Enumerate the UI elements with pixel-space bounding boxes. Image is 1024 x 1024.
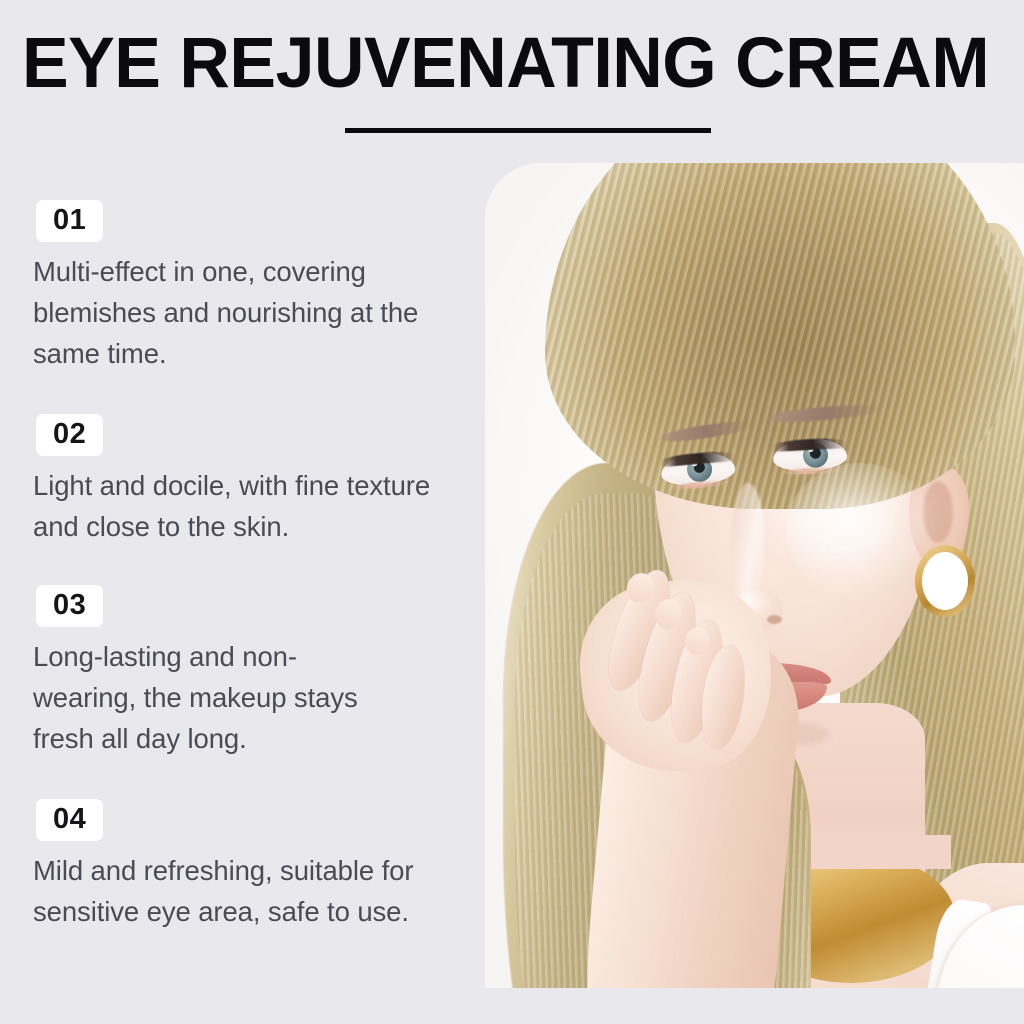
feature-item: 01 Multi-effect in one, covering blemish… bbox=[0, 200, 470, 374]
nostril-right bbox=[767, 615, 782, 624]
feature-item: 03 Long-lasting and non-wearing, the mak… bbox=[0, 561, 470, 759]
feature-number-badge: 04 bbox=[36, 799, 103, 841]
title-divider bbox=[345, 128, 711, 133]
eye-left bbox=[660, 450, 737, 488]
product-feature-poster: EYE REJUVENATING CREAM 01 Multi-effect i… bbox=[0, 0, 1024, 1024]
feature-number-badge: 03 bbox=[36, 585, 103, 627]
feature-description: Multi-effect in one, covering blemishes … bbox=[33, 251, 458, 374]
cheek-highlight bbox=[785, 463, 935, 598]
feature-description: Long-lasting and non-wearing, the makeup… bbox=[33, 636, 393, 759]
feature-list: 01 Multi-effect in one, covering blemish… bbox=[0, 200, 470, 946]
model-photo-panel bbox=[485, 163, 1024, 988]
feature-description: Light and docile, with fine texture and … bbox=[33, 465, 458, 547]
feature-description: Mild and refreshing, suitable for sensit… bbox=[33, 850, 458, 932]
nose-bridge bbox=[731, 483, 765, 603]
feature-item: 04 Mild and refreshing, suitable for sen… bbox=[0, 773, 470, 932]
model-photo bbox=[485, 163, 1024, 988]
feature-item: 02 Light and docile, with fine texture a… bbox=[0, 388, 470, 547]
feature-number-badge: 02 bbox=[36, 414, 103, 456]
feature-number-badge: 01 bbox=[36, 200, 103, 242]
page-title: EYE REJUVENATING CREAM bbox=[22, 26, 987, 102]
